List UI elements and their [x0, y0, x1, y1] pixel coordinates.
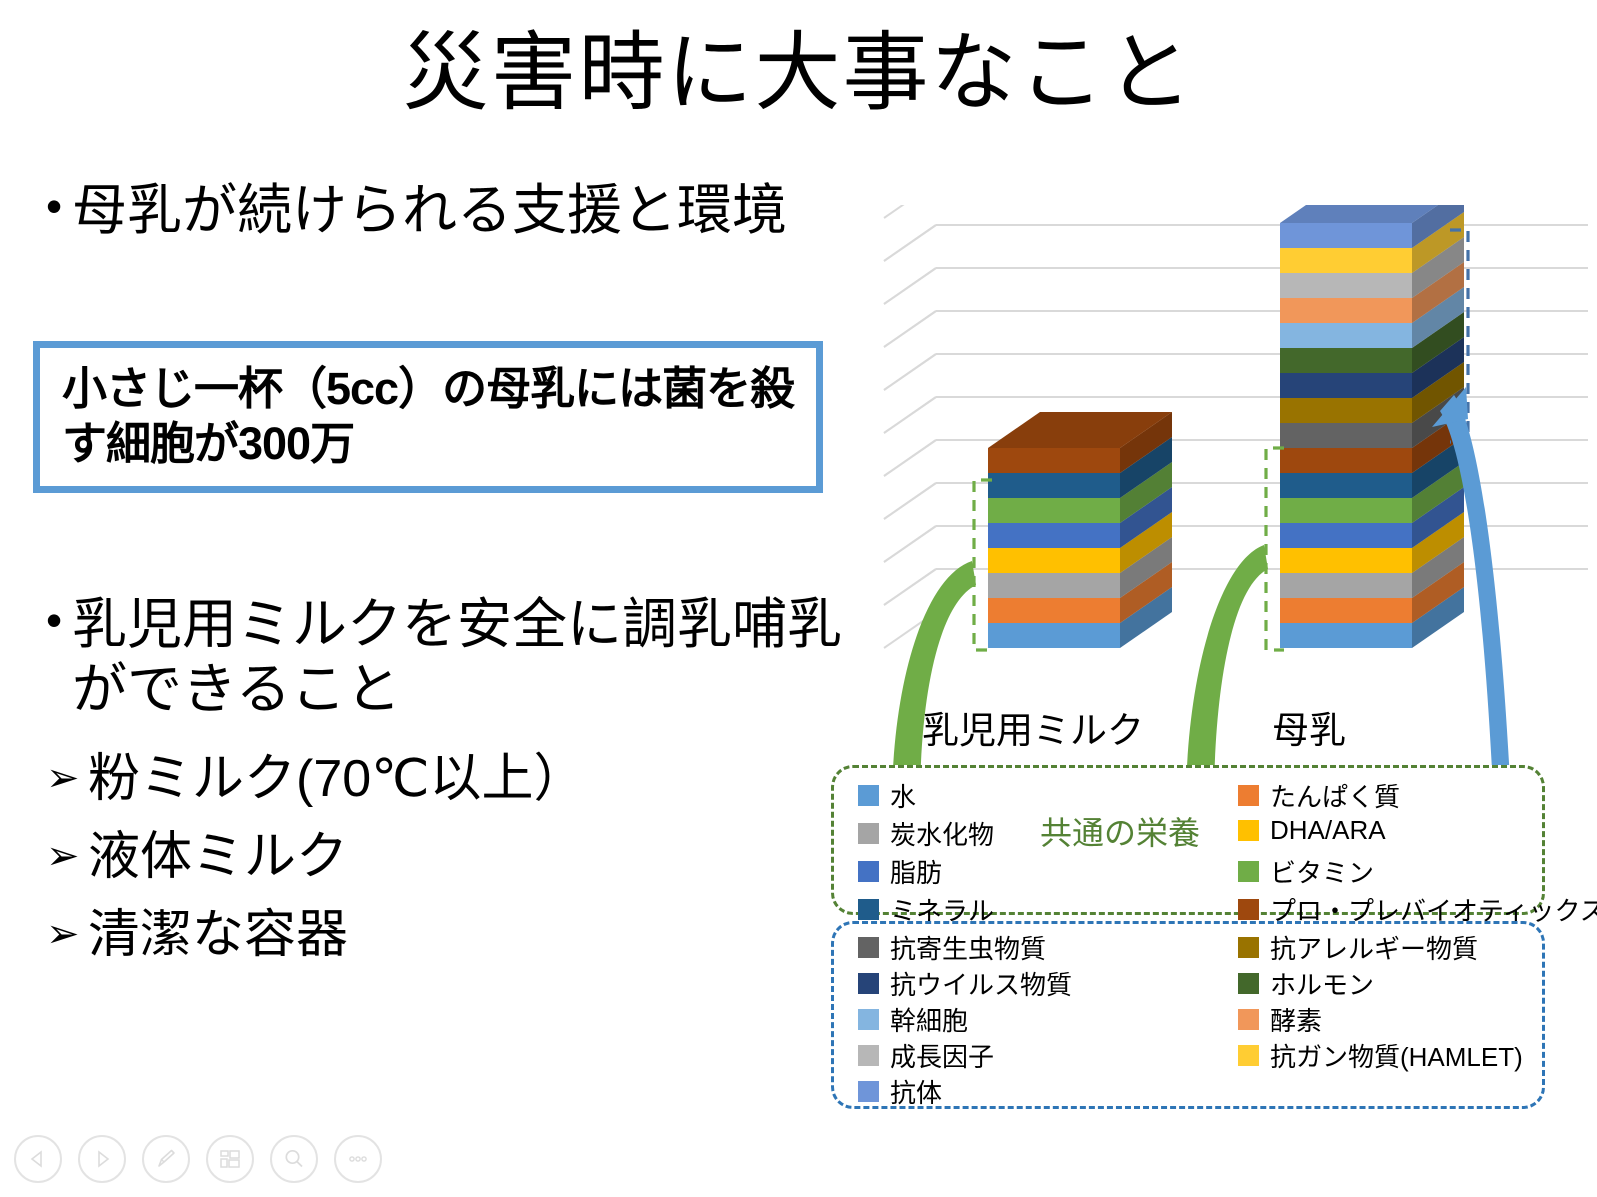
bar-segment-ビタミン [988, 498, 1120, 523]
legend-swatch-probiotics [1238, 899, 1259, 920]
bullet-marker-icon: • [46, 592, 72, 648]
next-slide-button[interactable] [78, 1135, 126, 1183]
legend-item-vitamin: ビタミン [1238, 853, 1374, 890]
bar-segment-たんぱく質 [1280, 598, 1412, 623]
emphasis-callout-box: 小さじ一杯（5cc）の母乳には菌を殺す細胞が300万 [33, 341, 823, 493]
legend-swatch-antiparasitic [858, 937, 879, 958]
bar-segment-酵素 [1280, 298, 1412, 323]
list-item-label: 粉ミルク(70℃以上） [88, 740, 586, 818]
legend-swatch-carbohydrate [858, 823, 879, 844]
legend-label: たんぱく質 [1270, 777, 1400, 814]
legend-swatch-growthfactor [858, 1045, 879, 1066]
green-arrow-breastmilk-body [1186, 545, 1268, 765]
legend-label: 幹細胞 [890, 1001, 968, 1038]
more-options-button[interactable] [334, 1135, 382, 1183]
arrow-marker-icon: ➢ [46, 818, 88, 894]
gridline-floor [884, 440, 936, 476]
bar-segment-DHA/ARA [988, 548, 1120, 573]
previous-slide-button[interactable] [14, 1135, 62, 1183]
bar-segment-炭水化物 [1280, 573, 1412, 598]
legend-item-growthfactor: 成長因子 [858, 1037, 994, 1074]
legend-swatch-enzyme [1238, 1009, 1259, 1030]
gridline-floor [884, 225, 936, 261]
bullet-list-top: • 母乳が続けられる支援と環境 [46, 178, 836, 243]
bullet-marker-icon: • [46, 178, 72, 234]
bar-segment-プロ・プレバイオティックス [988, 448, 1120, 473]
grid-icon [218, 1147, 242, 1171]
legend-item-dha-ara: DHA/ARA [1238, 815, 1386, 846]
bar-segment-脂肪 [988, 523, 1120, 548]
bar-segment-幹細胞 [1280, 323, 1412, 348]
bar-segment-プロ・プレバイオティックス [1280, 448, 1412, 473]
presentation-slide: 災害時に大事なこと • 母乳が続けられる支援と環境 小さじ一杯（5cc）の母乳に… [0, 0, 1597, 1197]
chart-category-label-breastmilk: 母乳 [1272, 700, 1346, 754]
legend-swatch-dha-ara [1238, 820, 1259, 841]
legend-item-fat: 脂肪 [858, 853, 942, 890]
triangle-left-icon [28, 1149, 48, 1169]
list-item-label: 清潔な容器 [88, 896, 348, 974]
bar-segment-ホルモン [1280, 348, 1412, 373]
bar-segment-抗寄生虫物質 [1280, 423, 1412, 448]
legend-swatch-protein [1238, 785, 1259, 806]
arrow-marker-icon: ➢ [46, 896, 88, 972]
legend-swatch-vitamin [1238, 861, 1259, 882]
legend-label: ホルモン [1270, 965, 1374, 1002]
legend-item-antibody: 抗体 [858, 1073, 942, 1110]
legend-label: DHA/ARA [1270, 815, 1386, 846]
chart-bar-乳児用ミルク [988, 412, 1172, 648]
legend-item-protein: たんぱく質 [1238, 777, 1400, 814]
bar-segment-抗体 [1280, 223, 1412, 248]
gridline-floor [884, 526, 936, 562]
legend-item-antiparasitic: 抗寄生虫物質 [858, 929, 1046, 966]
bar-segment-水 [988, 623, 1120, 648]
list-item: ➢ 粉ミルク(70℃以上） [46, 740, 846, 818]
slide-overview-button[interactable] [206, 1135, 254, 1183]
legend-common-caption: 共通の栄養 [1040, 808, 1200, 854]
chart-category-label-formula: 乳児用ミルク [922, 700, 1144, 754]
legend-item-hormone: ホルモン [1238, 965, 1374, 1002]
bar-segment-抗ガン物質(HAMLET) [1280, 248, 1412, 273]
legend-item-antiviral: 抗ウイルス物質 [858, 965, 1072, 1002]
legend-item-stemcell: 幹細胞 [858, 1001, 968, 1038]
stacked-column-chart [828, 205, 1588, 765]
list-item-label: 乳児用ミルクを安全に調乳哺乳ができること [72, 592, 846, 722]
bar-segment-DHA/ARA [1280, 548, 1412, 573]
gridline-floor [884, 354, 936, 390]
bar-segment-脂肪 [1280, 523, 1412, 548]
legend-swatch-water [858, 785, 879, 806]
bar-segment-ミネラル [988, 473, 1120, 498]
legend-item-anticancer: 抗ガン物質(HAMLET) [1238, 1037, 1523, 1074]
chart-bar-母乳 [1280, 205, 1464, 648]
list-item-label: 母乳が続けられる支援と環境 [72, 178, 836, 243]
legend-item-water: 水 [858, 777, 916, 814]
legend-label: ビタミン [1270, 853, 1374, 890]
legend-label: 成長因子 [890, 1037, 994, 1074]
zoom-tool-button[interactable] [270, 1135, 318, 1183]
legend-item-enzyme: 酵素 [1238, 1001, 1322, 1038]
page-title: 災害時に大事なこと [0, 28, 1597, 118]
legend-item-antiallergy: 抗アレルギー物質 [1238, 929, 1478, 966]
gridline-floor [884, 569, 936, 605]
legend-swatch-stemcell [858, 1009, 879, 1030]
legend-swatch-antibody [858, 1081, 879, 1102]
green-arrow-breastmilk [1186, 545, 1268, 765]
bar-segment-炭水化物 [988, 573, 1120, 598]
bullet-list-bottom: • 乳児用ミルクを安全に調乳哺乳ができること ➢ 粉ミルク(70℃以上） ➢ 液… [46, 592, 846, 974]
list-item: • 乳児用ミルクを安全に調乳哺乳ができること [46, 592, 846, 722]
magnifier-icon [282, 1147, 306, 1171]
ellipsis-icon [345, 1146, 371, 1172]
legend-swatch-anticancer [1238, 1045, 1259, 1066]
slideshow-toolbar [14, 1135, 382, 1183]
gridline-floor [884, 483, 936, 519]
chart-canvas [828, 205, 1588, 765]
list-item: ➢ 液体ミルク [46, 818, 846, 896]
triangle-right-icon [92, 1149, 112, 1169]
arrow-marker-icon: ➢ [46, 740, 88, 816]
pen-tool-button[interactable] [142, 1135, 190, 1183]
legend-label: 抗寄生虫物質 [890, 929, 1046, 966]
gridline-floor [884, 268, 936, 304]
gridline-floor [884, 397, 936, 433]
list-item: • 母乳が続けられる支援と環境 [46, 178, 836, 243]
legend-label: 抗アレルギー物質 [1270, 929, 1478, 966]
bar-segment-抗アレルギー物質 [1280, 398, 1412, 423]
legend-swatch-antiallergy [1238, 937, 1259, 958]
legend-label: 抗ガン物質(HAMLET) [1270, 1037, 1523, 1074]
legend-swatch-hormone [1238, 973, 1259, 994]
legend-label: 抗ウイルス物質 [890, 965, 1072, 1002]
legend-label: 抗体 [890, 1073, 942, 1110]
bar-segment-水 [1280, 623, 1412, 648]
bar-segment-成長因子 [1280, 273, 1412, 298]
legend-swatch-mineral [858, 899, 879, 920]
legend-swatch-fat [858, 861, 879, 882]
legend-item-carbohydrate: 炭水化物 [858, 815, 994, 852]
gridline-floor [884, 311, 936, 347]
legend-label: 炭水化物 [890, 815, 994, 852]
pen-icon [154, 1147, 178, 1171]
list-item-label: 液体ミルク [88, 818, 348, 896]
bar-segment-ミネラル [1280, 473, 1412, 498]
bar-segment-たんぱく質 [988, 598, 1120, 623]
bar-segment-抗ウイルス物質 [1280, 373, 1412, 398]
bar-segment-ビタミン [1280, 498, 1412, 523]
gridline-floor [884, 205, 936, 218]
legend-label: 水 [890, 777, 916, 814]
emphasis-callout-text: 小さじ一杯（5cc）の母乳には菌を殺す細胞が300万 [40, 362, 816, 472]
legend-label: 脂肪 [890, 853, 942, 890]
legend-label: 酵素 [1270, 1001, 1322, 1038]
list-item: ➢ 清潔な容器 [46, 896, 846, 974]
legend-swatch-antiviral [858, 973, 879, 994]
